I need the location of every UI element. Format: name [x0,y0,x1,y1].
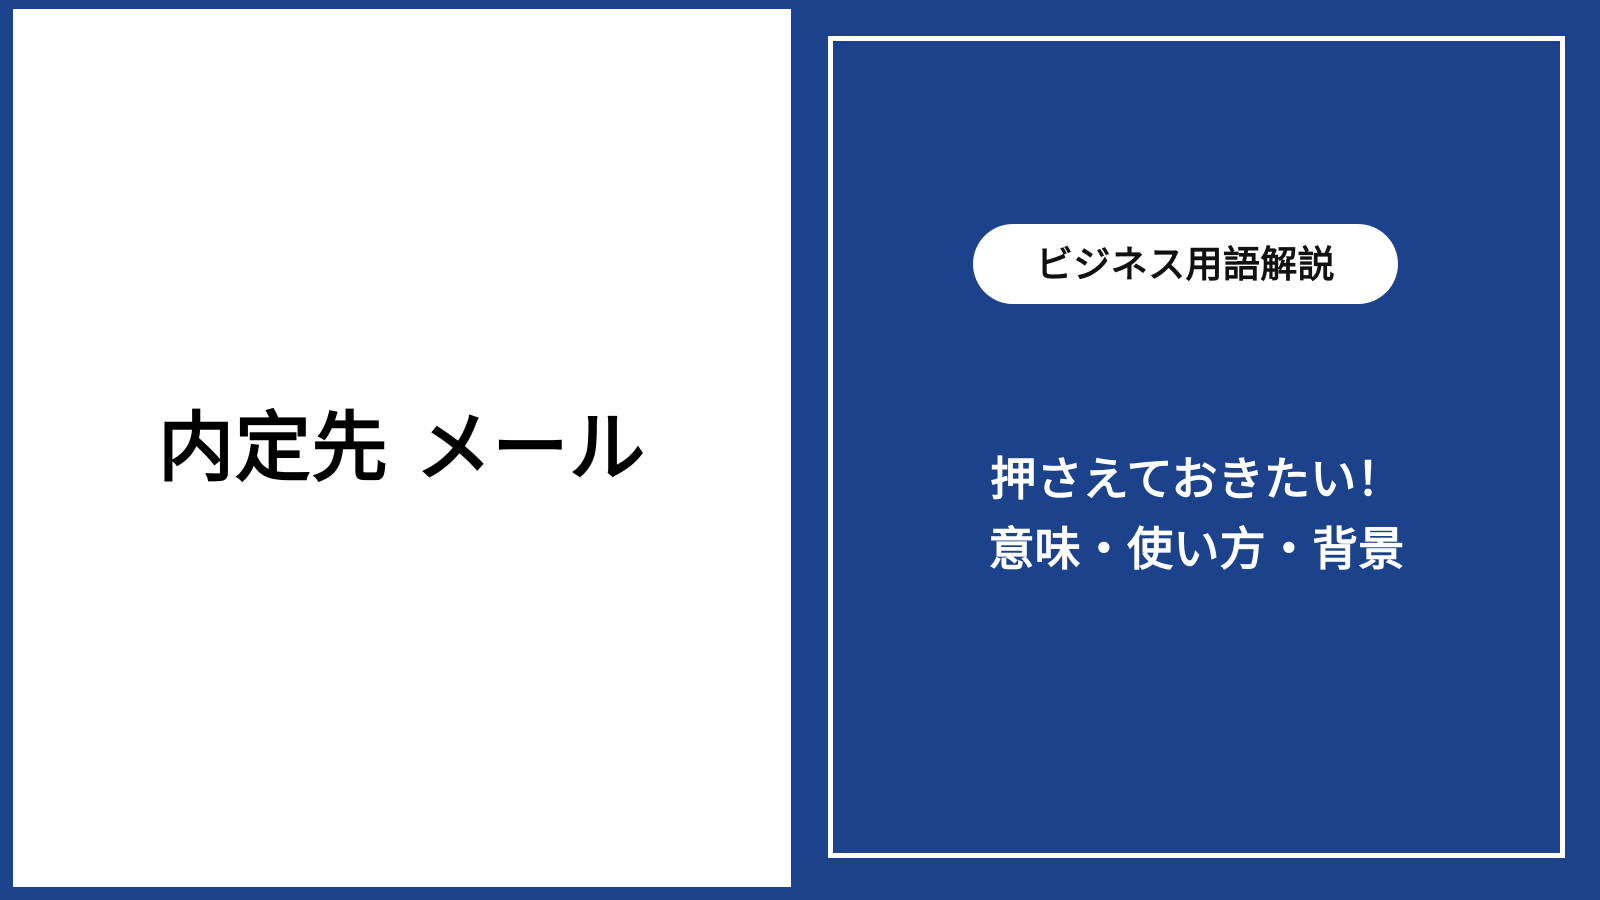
thumbnail-canvas: 内定先 メール ビジネス用語解説 押さえておきたい！ 意味・使い方・背景 [0,0,1600,900]
category-badge: ビジネス用語解説 [973,224,1398,304]
category-badge-label: ビジネス用語解説 [1036,246,1335,283]
headline-block: 押さえておきたい！ 意味・使い方・背景 [833,445,1560,585]
page-title: 内定先 メール [158,404,646,491]
right-blue-panel: ビジネス用語解説 押さえておきたい！ 意味・使い方・背景 [800,0,1600,900]
headline-line-2: 意味・使い方・背景 [833,515,1560,585]
left-keyword-card: 内定先 メール [13,9,791,887]
right-panel-content: ビジネス用語解説 押さえておきたい！ 意味・使い方・背景 [833,41,1560,853]
headline-line-1: 押さえておきたい！ [833,445,1560,515]
right-panel-border-frame: ビジネス用語解説 押さえておきたい！ 意味・使い方・背景 [828,36,1565,858]
